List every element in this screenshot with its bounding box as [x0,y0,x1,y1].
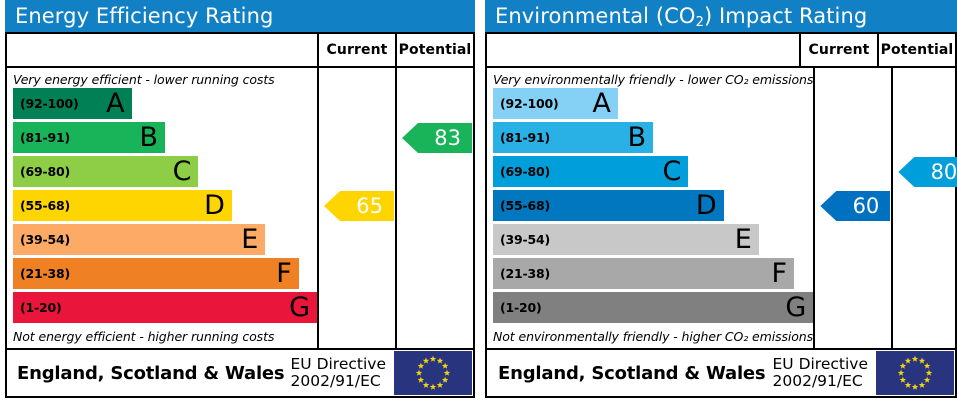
table-header-row: Current Potential [487,34,955,68]
co2-impact-frame: Current Potential Very environmentally f… [485,32,957,350]
potential-rating-arrow: 80 [898,157,957,187]
header-current: Current [799,34,877,66]
caption-top: Very environmentally friendly - lower CO… [487,68,813,88]
current-rating-arrow: 65 [324,191,394,221]
band-range-label: (1-20) [493,300,542,315]
table-body-row: Very energy efficient - lower running co… [7,68,473,348]
footer-directive-label: EU Directive 2002/91/EC [773,356,877,391]
energy-efficiency-title: Energy Efficiency Rating [5,0,475,32]
rating-band-b: (81-91)B [493,122,653,153]
rating-band-e: (39-54)E [493,224,759,255]
band-letter-label: B [628,123,647,150]
co2-impact-title: Environmental (CO2) Impact Rating [485,0,957,32]
bands-column: Very energy efficient - lower running co… [7,68,317,348]
caption-bottom: Not environmentally friendly - higher CO… [487,326,813,346]
rating-value: 65 [356,196,383,217]
panel-title-text: Energy Efficiency Rating [15,4,273,28]
eu-flag-icon [394,351,472,395]
rating-band-g: (1-20)G [13,292,317,323]
rating-band-c: (69-80)C [13,156,198,187]
band-letter-label: A [106,89,124,116]
energy-efficiency-panel: Energy Efficiency Rating Current Potenti… [5,0,475,404]
footer-directive-label: EU Directive 2002/91/EC [291,356,395,391]
table-body-row: Very environmentally friendly - lower CO… [487,68,955,348]
header-spacer-cell [7,34,317,66]
band-letter-label: E [735,225,752,252]
band-range-label: (39-54) [493,232,550,247]
directive-line-2: 2002/91/EC [773,373,869,390]
header-potential: Potential [877,34,955,66]
rating-value: 80 [931,162,957,183]
potential-rating-arrow: 83 [402,123,472,153]
band-letter-label: E [241,225,258,252]
rating-band-e: (39-54)E [13,224,265,255]
rating-band-f: (21-38)F [13,258,299,289]
band-range-label: (81-91) [493,130,550,145]
band-range-label: (92-100) [13,96,79,111]
band-range-label: (1-20) [13,300,62,315]
current-column: 60 [813,68,891,348]
rating-band-b: (81-91)B [13,122,165,153]
current-rating-arrow: 60 [820,191,890,221]
rating-band-a: (92-100)A [13,88,132,119]
potential-column: 80 [891,68,957,348]
band-letter-label: G [785,293,806,320]
directive-line-1: EU Directive [291,356,387,373]
rating-band-a: (92-100)A [493,88,618,119]
band-letter-label: B [139,123,158,150]
footer-bar: England, Scotland & Wales EU Directive 2… [5,350,475,398]
band-range-label: (55-68) [13,198,70,213]
band-letter-label: G [289,293,310,320]
band-letter-label: C [663,157,682,184]
directive-line-2: 2002/91/EC [291,373,387,390]
energy-efficiency-frame: Current Potential Very energy efficient … [5,32,475,350]
band-letter-label: D [696,191,717,218]
header-spacer-cell [487,34,799,66]
footer-region-label: England, Scotland & Wales [7,363,291,384]
band-range-label: (69-80) [493,164,550,179]
rating-band-f: (21-38)F [493,258,794,289]
band-letter-label: F [772,259,788,286]
band-range-label: (39-54) [13,232,70,247]
table-header-row: Current Potential [7,34,473,68]
band-list: (92-100)A(81-91)B(69-80)C(55-68)D(39-54)… [7,88,317,323]
epc-charts-page: Energy Efficiency Rating Current Potenti… [0,0,957,404]
band-list: (92-100)A(81-91)B(69-80)C(55-68)D(39-54)… [487,88,813,323]
rating-band-c: (69-80)C [493,156,688,187]
caption-bottom: Not energy efficient - higher running co… [7,326,317,346]
band-range-label: (21-38) [493,266,550,281]
rating-value: 60 [853,196,880,217]
footer-bar: England, Scotland & Wales EU Directive 2… [485,350,957,398]
band-letter-label: C [173,157,192,184]
header-current: Current [317,34,395,66]
co2-impact-panel: Environmental (CO2) Impact Rating Curren… [485,0,957,404]
band-range-label: (21-38) [13,266,70,281]
band-range-label: (69-80) [13,164,70,179]
band-letter-label: A [592,89,610,116]
eu-flag-icon [876,351,954,395]
footer-region-label: England, Scotland & Wales [487,363,773,384]
header-potential: Potential [395,34,473,66]
band-letter-label: D [204,191,225,218]
current-column: 65 [317,68,395,348]
panel-title-text: Environmental (CO2) Impact Rating [495,4,867,28]
band-range-label: (55-68) [493,198,550,213]
caption-top: Very energy efficient - lower running co… [7,68,317,88]
rating-value: 83 [434,128,461,149]
rating-band-g: (1-20)G [493,292,813,323]
band-range-label: (81-91) [13,130,70,145]
rating-band-d: (55-68)D [13,190,232,221]
potential-column: 83 [395,68,473,348]
band-range-label: (92-100) [493,96,559,111]
bands-column: Very environmentally friendly - lower CO… [487,68,813,348]
rating-band-d: (55-68)D [493,190,724,221]
band-letter-label: F [276,259,292,286]
directive-line-1: EU Directive [773,356,869,373]
